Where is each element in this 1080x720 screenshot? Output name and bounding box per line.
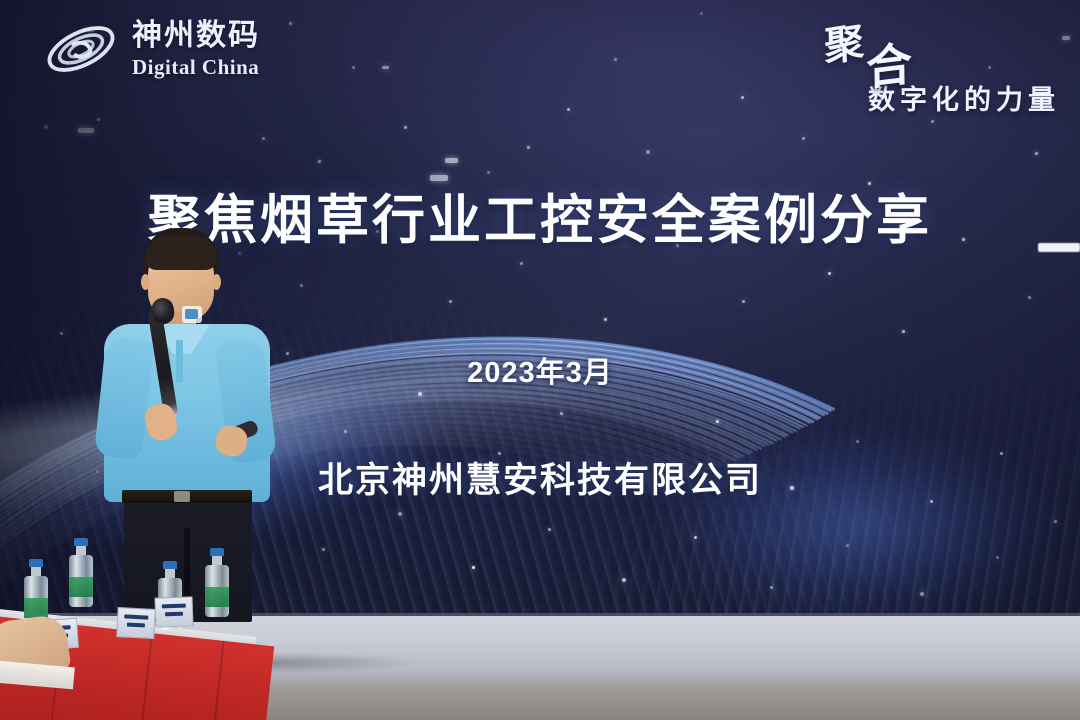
juhe-calligraphy: 聚 合 [800,14,1060,76]
presenter-placket [176,340,183,382]
digital-china-logo: 神州数码 Digital China [42,18,260,80]
presenter-belt-buckle [174,491,190,502]
presenter-hair-front [145,236,217,270]
digital-china-chinese: 神州数码 [132,21,260,51]
name-card [154,596,193,627]
water-bottle [205,548,229,617]
screen-edge-dash [1038,243,1080,252]
spiral-galaxy-icon [42,18,120,80]
juhe-char-he: 合 [866,27,913,99]
name-card [116,607,156,639]
presenter-ear-left [141,274,150,290]
presenter-ear-right [212,274,221,290]
juhe-tagline: 数字化的力量 [800,78,1060,117]
presenter-shirt-badge-mark [185,309,198,319]
conference-stage-photo: 神州数码 Digital China 聚 合 数字化的力量 聚焦烟草行业工控安全… [0,0,1080,720]
juhe-event-logo: 聚 合 数字化的力量 [800,14,1060,114]
digital-china-english: Digital China [132,57,260,78]
juhe-char-ju: 聚 [823,9,865,74]
water-bottle [69,538,93,607]
